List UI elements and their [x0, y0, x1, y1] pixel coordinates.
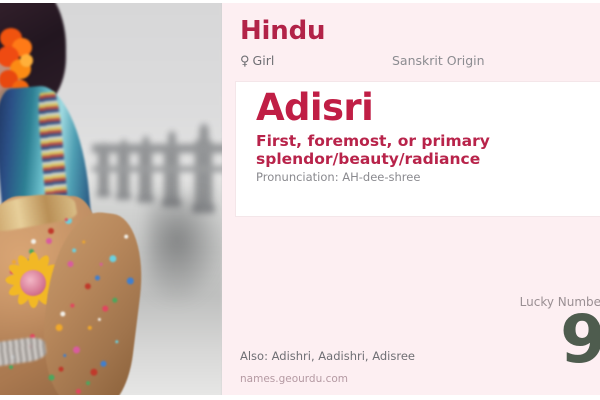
- lucky-number-block: Lucky Number 9: [408, 296, 600, 371]
- embroidery-bead: [115, 340, 118, 343]
- embroidery-bead: [102, 305, 109, 312]
- top-edge-strip: [0, 0, 600, 3]
- embroidery-bead: [126, 277, 134, 285]
- embroidery-bead: [31, 239, 36, 244]
- flower-center: [20, 270, 46, 296]
- info-content: Hindu ♀Girl Sanskrit Origin Adisri First…: [222, 0, 600, 400]
- venus-icon: ♀: [240, 54, 250, 69]
- lucky-number-value: 9: [408, 310, 600, 371]
- embroidery-bead: [72, 248, 76, 252]
- embroidery-bead: [95, 275, 101, 281]
- name-meaning: First, foremost, or primary splendor/bea…: [256, 132, 576, 169]
- embroidery-bead: [76, 389, 82, 395]
- embroidery-bead: [100, 360, 107, 367]
- embroidery-bead: [86, 381, 90, 385]
- embroidery-bead: [60, 311, 66, 317]
- embroidery-bead: [90, 368, 98, 376]
- origin-label: Sanskrit Origin: [392, 53, 485, 68]
- embroidery-bead: [112, 297, 118, 303]
- portrait-photo: [0, 0, 222, 400]
- site-attribution: names.geourdu.com: [240, 373, 348, 385]
- meta-row: ♀Girl Sanskrit Origin: [240, 53, 580, 71]
- name-info-card: Hindu ♀Girl Sanskrit Origin Adisri First…: [0, 0, 600, 400]
- embroidery-bead: [98, 318, 101, 321]
- embroidery-bead: [48, 374, 55, 381]
- name-heading: Adisri: [256, 89, 373, 126]
- embroidery-bead: [63, 354, 66, 357]
- flower-petal: [20, 54, 33, 67]
- bottom-edge-strip: [0, 395, 600, 400]
- woman-figure: [0, 0, 156, 400]
- name-pronunciation: Pronunciation: AH-dee-shree: [256, 170, 420, 184]
- embroidery-bead: [124, 234, 128, 238]
- embroidery-bead: [73, 346, 81, 354]
- embroidery-bead: [109, 255, 117, 263]
- embroidery-bead: [48, 228, 54, 234]
- gender-label: Girl: [253, 53, 275, 68]
- alternate-spellings: Also: Adishri, Aadishri, Adisree: [240, 349, 415, 363]
- embroidery-bead: [55, 324, 63, 332]
- embroidery-bead: [85, 283, 92, 290]
- embroidery-bead: [9, 365, 13, 369]
- name-detail-card: Adisri First, foremost, or primary splen…: [236, 82, 600, 216]
- embroidery-bead: [82, 240, 85, 243]
- gender-meta: ♀Girl: [240, 53, 274, 69]
- embroidery-bead: [67, 261, 74, 268]
- embroidery-bead: [58, 366, 64, 372]
- embroidery-bead: [46, 238, 52, 244]
- embroidery-bead: [88, 326, 92, 330]
- distant-blurred-shape: [146, 196, 222, 306]
- embroidery-bead: [70, 303, 74, 307]
- embroidery-bead: [99, 263, 102, 266]
- religion-title: Hindu: [240, 18, 325, 44]
